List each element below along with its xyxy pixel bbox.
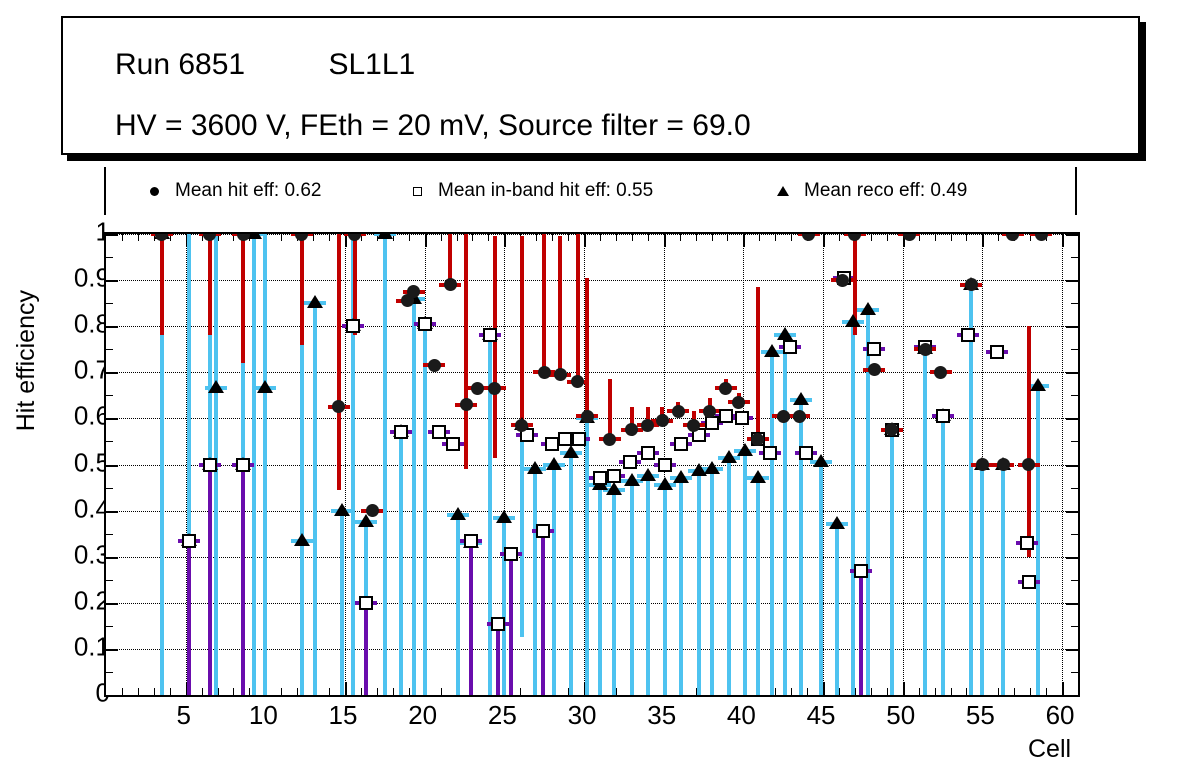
x-axis-tick [903,682,905,695]
x-axis-minor-tick [966,688,967,695]
y-axis-minor-tick [106,580,113,581]
x-axis-minor-tick [791,688,792,695]
data-point-hit-eff [903,234,916,241]
x-axis-minor-tick [839,234,840,241]
x-axis-minor-tick [727,234,728,241]
data-point-hit-eff [793,410,806,423]
data-point-hit-eff [997,458,1010,471]
error-bar-reco-eff [799,400,803,695]
data-point-reco-eff [606,482,622,495]
data-point-hit-eff [444,278,457,291]
data-point-inband-eff [483,328,497,342]
data-point-hit-eff [777,410,790,423]
x-axis-tick [664,234,666,247]
x-axis-minor-tick [122,688,123,695]
data-point-hit-eff [1022,458,1035,471]
x-axis-tick [1062,234,1064,247]
data-point-hit-eff [732,396,745,409]
x-axis-minor-tick [170,688,171,695]
x-axis-minor-tick [154,688,155,695]
x-axis-minor-tick [887,234,888,241]
y-axis-minor-tick [1071,349,1078,350]
x-axis-tick [345,682,347,695]
data-point-reco-eff [777,327,793,340]
data-point-inband-eff [719,409,733,423]
x-axis-tick [823,234,825,247]
error-bar-reco-eff [646,476,650,695]
title-box: Run 6851 SL1L1 HV = 3600 V, FEth = 20 mV… [61,16,1140,155]
open-square-icon [406,187,428,196]
y-axis-minor-tick [1071,395,1078,396]
error-bar-reco-eff [679,478,683,695]
data-point-hit-eff [554,368,567,381]
x-axis-minor-tick [1030,688,1031,695]
data-point-inband-eff [799,446,813,460]
data-point-reco-eff [1030,378,1046,391]
data-point-hit-eff [848,234,861,241]
x-axis-tick [982,234,984,247]
x-tick-label: 50 [886,700,915,731]
x-axis-minor-tick [441,688,442,695]
y-axis-title: Hit efficiency [12,290,41,431]
data-point-inband-eff [1022,575,1036,589]
error-bar-hit-eff [300,234,304,345]
x-tick-label: 30 [568,700,597,731]
data-point-inband-eff [783,340,797,354]
error-bar-reco-eff [263,234,267,695]
data-point-reco-eff [764,344,780,357]
y-axis-minor-tick [106,488,113,489]
error-bar-inband-eff [187,541,191,695]
error-bar-reco-eff [1001,465,1005,696]
error-bar-reco-eff [851,322,855,695]
data-point-inband-eff [674,437,688,451]
x-tick-label: 60 [1046,700,1075,731]
y-axis-minor-tick [1071,534,1078,535]
data-point-inband-eff [491,617,505,631]
data-point-reco-eff [307,295,323,308]
data-point-reco-eff [527,461,543,474]
data-point-reco-eff [813,454,829,467]
plot-area [104,232,1080,697]
error-bar-reco-eff [770,352,774,695]
data-point-hit-eff [625,423,638,436]
data-point-inband-eff [763,446,777,460]
data-point-hit-eff [641,419,654,432]
x-axis-minor-tick [409,234,410,241]
data-point-hit-eff [672,405,685,418]
data-point-reco-eff [450,507,466,520]
y-axis-tick [1066,280,1078,282]
data-point-hit-eff [460,398,473,411]
x-axis-minor-tick [281,234,282,241]
data-point-hit-eff [719,382,732,395]
data-point-inband-eff [867,342,881,356]
error-bar-reco-eff [980,465,984,696]
x-axis-minor-tick [249,688,250,695]
data-point-inband-eff [854,564,868,578]
data-point-reco-eff [704,461,720,474]
x-axis-minor-tick [998,688,999,695]
data-point-inband-eff [607,469,621,483]
error-bar-hit-eff [520,236,524,425]
x-tick-label: 55 [966,700,995,731]
data-point-inband-eff [990,345,1004,359]
x-axis-minor-tick [409,688,410,695]
x-axis-minor-tick [329,234,330,241]
error-bar-reco-eff [941,416,945,695]
data-point-reco-eff [845,314,861,327]
x-axis-tick [743,234,745,247]
data-point-hit-eff [348,234,361,241]
error-bar-reco-eff [502,518,506,695]
legend-entry-reco-eff: Mean reco eff: 0.49 [772,167,967,215]
x-axis-minor-tick [329,688,330,695]
gridline-vertical [345,234,346,695]
x-axis-tick [504,234,506,247]
error-bar-hit-eff [1027,326,1031,557]
error-bar-reco-eff [663,485,667,695]
data-point-hit-eff [868,363,881,376]
data-point-inband-eff [394,425,408,439]
data-point-hit-eff [965,278,978,291]
data-point-inband-eff [203,458,217,472]
error-bar-reco-eff [423,324,427,695]
x-axis-minor-tick [887,688,888,695]
y-axis-minor-tick [1071,488,1078,489]
error-bar-hit-eff [756,287,760,439]
error-bar-reco-eff [552,465,556,696]
error-bar-inband-eff [364,603,368,695]
data-point-reco-eff [546,457,562,470]
x-axis-minor-tick [393,688,394,695]
x-tick-label: 15 [329,700,358,731]
legend-label-hit-eff: Mean hit eff: 0.62 [175,180,321,202]
data-point-reco-eff [496,510,512,523]
x-axis-title: Cell [1028,735,1071,764]
data-point-inband-eff [593,471,607,485]
error-bar-reco-eff [383,234,387,695]
error-bar-reco-eff [783,335,787,695]
x-axis-minor-tick [632,234,633,241]
data-point-hit-eff [656,414,669,427]
error-bar-inband-eff [509,554,513,695]
data-point-hit-eff [802,234,815,241]
error-bar-hit-eff [464,234,468,469]
y-axis-minor-tick [1071,626,1078,627]
x-axis-minor-tick [759,234,760,241]
error-bar-reco-eff [890,430,894,695]
error-bar-inband-eff [241,465,245,696]
data-point-reco-eff [829,516,845,529]
data-point-inband-eff [182,534,196,548]
data-point-inband-eff [705,416,719,430]
y-axis-tick [1066,234,1078,236]
data-point-hit-eff [976,458,989,471]
error-bar-inband-eff [496,624,500,695]
error-bar-reco-eff [697,471,701,695]
error-bar-reco-eff [630,481,634,695]
y-axis-tick [106,372,118,374]
data-point-hit-eff [428,359,441,372]
error-bar-inband-eff [859,571,863,695]
x-axis-minor-tick [871,234,872,241]
error-bar-hit-eff [558,236,562,374]
data-point-reco-eff [377,234,393,239]
x-axis-tick [425,234,427,247]
x-axis-minor-tick [377,688,378,695]
y-axis-tick [1066,557,1078,559]
data-point-inband-eff [936,409,950,423]
x-axis-minor-tick [648,234,649,241]
y-axis-minor-tick [106,349,113,350]
data-point-hit-eff [366,504,379,517]
data-point-hit-eff [538,366,551,379]
legend-entry-hit-eff: Mean hit eff: 0.62 [143,167,321,215]
chart-page: Run 6851 SL1L1 HV = 3600 V, FEth = 20 mV… [0,0,1196,772]
x-tick-label: 20 [408,700,437,731]
data-point-inband-eff [504,547,518,561]
title-line-2: HV = 3600 V, FEth = 20 mV, Source filter… [115,109,751,143]
x-axis-minor-tick [935,234,936,241]
x-axis-minor-tick [138,688,139,695]
legend-label-inband-eff: Mean in-band hit eff: 0.55 [438,180,653,202]
error-bar-reco-eff [598,485,602,695]
x-axis-minor-tick [488,234,489,241]
x-tick-label: 35 [647,700,676,731]
x-axis-minor-tick [600,234,601,241]
title-line-1: Run 6851 SL1L1 [115,48,415,82]
x-axis-minor-tick [998,234,999,241]
y-axis-tick [1066,511,1078,513]
y-axis-minor-tick [106,303,113,304]
data-point-inband-eff [432,425,446,439]
error-bar-reco-eff [585,418,589,695]
legend: Mean hit eff: 0.62 Mean in-band hit eff:… [104,167,1077,215]
x-axis-minor-tick [680,234,681,241]
x-axis-minor-tick [935,688,936,695]
x-axis-minor-tick [536,234,537,241]
error-bar-inband-eff [208,465,212,696]
x-axis-minor-tick [313,234,314,241]
error-bar-reco-eff [533,469,537,695]
error-bar-reco-eff [835,524,839,695]
x-axis-minor-tick [568,234,569,241]
x-axis-minor-tick [457,234,458,241]
data-point-hit-eff [603,433,616,446]
error-bar-reco-eff [313,303,317,695]
x-tick-label: 5 [176,700,190,731]
data-point-reco-eff [208,380,224,393]
x-axis-minor-tick [775,688,776,695]
x-axis-minor-tick [138,234,139,241]
y-axis-minor-tick [1071,672,1078,673]
x-axis-minor-tick [951,688,952,695]
y-axis-tick [106,418,118,420]
data-point-reco-eff [624,473,640,486]
data-point-reco-eff [294,533,310,546]
error-bar-reco-eff [969,285,973,695]
x-tick-label: 40 [727,700,756,731]
data-point-hit-eff [571,375,584,388]
data-point-hit-eff [295,234,308,241]
error-bar-reco-eff [399,432,403,695]
y-axis-minor-tick [1071,441,1078,442]
y-axis-tick [1066,603,1078,605]
error-bar-hit-eff [241,234,245,363]
y-axis-minor-tick [106,534,113,535]
data-point-hit-eff [471,382,484,395]
error-bar-reco-eff [756,478,760,695]
data-point-reco-eff [673,470,689,483]
data-point-inband-eff [558,432,572,446]
y-axis-minor-tick [106,626,113,627]
data-point-reco-eff [640,468,656,481]
x-axis-minor-tick [281,688,282,695]
filled-circle-icon [143,187,165,196]
x-axis-minor-tick [552,234,553,241]
error-bar-reco-eff [569,453,573,695]
data-point-hit-eff [488,382,501,395]
data-point-reco-eff [793,392,809,405]
x-axis-minor-tick [297,688,298,695]
y-axis-minor-tick [106,441,113,442]
data-point-reco-eff [257,380,273,393]
x-axis-minor-tick [775,234,776,241]
x-axis-minor-tick [441,234,442,241]
y-axis-tick [106,465,118,467]
x-axis-minor-tick [966,234,967,241]
x-axis-tick [584,234,586,247]
data-point-reco-eff [657,477,673,490]
x-axis-minor-tick [807,688,808,695]
error-bar-hit-eff [493,236,497,457]
x-axis-minor-tick [520,688,521,695]
data-point-reco-eff [563,445,579,458]
data-point-hit-eff [581,410,594,423]
y-axis-tick [106,557,118,559]
data-point-hit-eff [934,366,947,379]
data-point-inband-eff [961,328,975,342]
y-axis-minor-tick [1071,580,1078,581]
y-axis-minor-tick [106,672,113,673]
y-axis-minor-tick [106,395,113,396]
data-point-hit-eff [919,343,932,356]
data-point-inband-eff [735,411,749,425]
x-axis-minor-tick [122,234,123,241]
data-point-inband-eff [623,455,637,469]
data-point-hit-eff [836,274,849,287]
data-point-inband-eff [446,437,460,451]
error-bar-hit-eff [160,234,164,335]
x-axis-minor-tick [696,234,697,241]
y-axis-tick [106,234,118,236]
data-point-hit-eff [751,433,764,446]
x-axis-minor-tick [233,688,234,695]
error-bar-reco-eff [710,469,714,695]
gridline-vertical [903,234,904,695]
y-axis-minor-tick [106,257,113,258]
error-bar-hit-eff [576,234,580,382]
data-point-inband-eff [658,458,672,472]
error-bar-reco-eff [743,451,747,695]
filled-triangle-icon [772,186,794,196]
y-axis-minor-tick [1071,303,1078,304]
x-axis-minor-tick [919,688,920,695]
data-point-inband-eff [236,458,250,472]
data-point-reco-eff [860,302,876,315]
y-axis-tick [106,649,118,651]
error-bar-reco-eff [727,458,731,695]
plot-canvas [106,234,1078,695]
data-point-inband-eff [346,319,360,333]
error-bar-reco-eff [412,299,416,695]
error-bar-reco-eff [923,349,927,695]
y-axis-tick [1066,372,1078,374]
data-point-hit-eff [155,234,168,241]
y-axis-tick [106,603,118,605]
data-point-inband-eff [359,596,373,610]
y-axis-tick [106,511,118,513]
error-bar-reco-eff [340,511,344,695]
y-axis-tick [1066,418,1078,420]
error-bar-reco-eff [612,490,616,695]
x-tick-label: 25 [488,700,517,731]
data-point-reco-eff [750,470,766,483]
error-bar-hit-eff [542,234,546,372]
data-point-inband-eff [464,534,478,548]
data-point-reco-eff [334,503,350,516]
y-axis-tick [106,326,118,328]
x-axis-minor-tick [616,234,617,241]
y-axis-tick [1066,465,1078,467]
error-bar-inband-eff [469,541,473,695]
data-point-inband-eff [572,432,586,446]
error-bar-hit-eff [208,234,212,335]
x-axis-tick [1062,682,1064,695]
error-bar-hit-eff [585,278,589,416]
data-point-inband-eff [641,446,655,460]
x-axis-minor-tick [1046,688,1047,695]
y-axis-tick [1066,649,1078,651]
y-axis-tick [106,280,118,282]
y-axis-tick [1066,326,1078,328]
x-axis-minor-tick [361,688,362,695]
data-point-inband-eff [536,524,550,538]
data-point-inband-eff [1020,536,1034,550]
error-bar-hit-eff [608,379,612,439]
x-axis-minor-tick [1014,688,1015,695]
x-axis-minor-tick [951,234,952,241]
error-bar-inband-eff [541,531,545,695]
data-point-hit-eff [1006,234,1019,241]
y-axis-minor-tick [1071,257,1078,258]
x-tick-label: 45 [807,700,836,731]
x-axis-minor-tick [791,234,792,241]
x-axis-minor-tick [202,688,203,695]
error-bar-hit-eff [448,234,452,285]
x-axis-minor-tick [871,688,872,695]
data-point-inband-eff [418,317,432,331]
data-point-reco-eff [721,450,737,463]
legend-label-reco-eff: Mean reco eff: 0.49 [804,180,967,202]
legend-entry-inband-eff: Mean in-band hit eff: 0.55 [406,167,653,215]
error-bar-reco-eff [520,425,524,637]
x-tick-label: 10 [249,700,278,731]
gridline-vertical [1062,234,1063,695]
error-bar-reco-eff [819,462,823,695]
x-axis-minor-tick [472,234,473,241]
